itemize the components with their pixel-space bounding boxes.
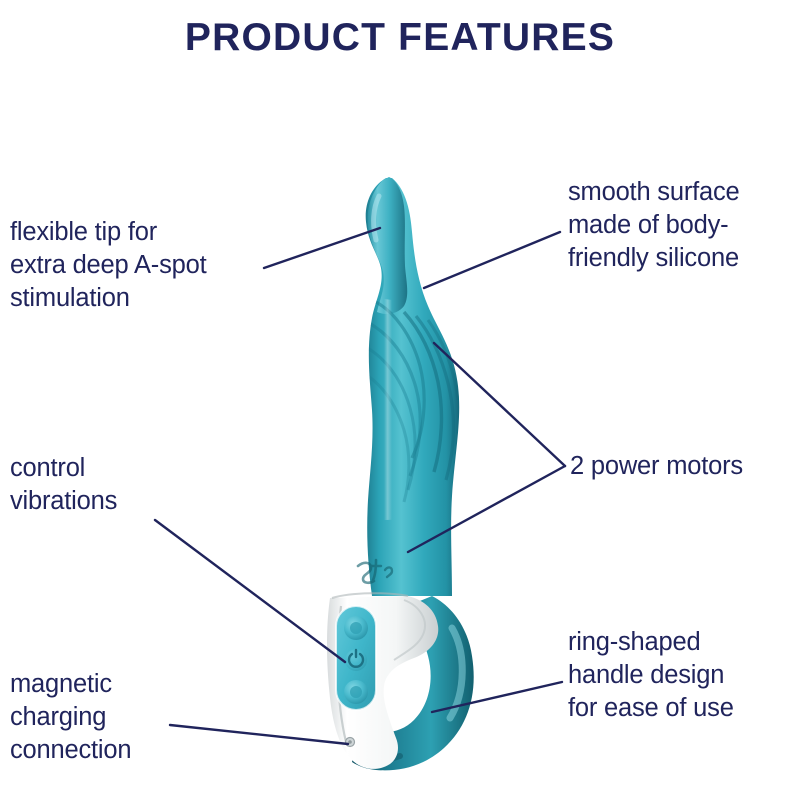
infographic-canvas: PRODUCT FEATURES: [0, 0, 800, 800]
button-down[interactable]: [344, 680, 368, 704]
callout-ring-handle: ring-shaped handle design for ease of us…: [568, 626, 800, 725]
flexible-tip-part: [368, 177, 408, 314]
callout-flexible-tip: flexible tip for extra deep A-spot stimu…: [10, 216, 280, 315]
product-shaft: [358, 177, 459, 596]
callout-smooth-surface: smooth surface made of body- friendly si…: [568, 176, 800, 275]
callout-power-motors: 2 power motors: [570, 450, 800, 483]
button-up[interactable]: [344, 616, 368, 640]
control-panel[interactable]: [336, 606, 376, 710]
magnetic-charging-contacts-icon: [346, 738, 355, 747]
callout-control-vibrations: control vibrations: [10, 452, 240, 518]
power-button[interactable]: [345, 649, 367, 671]
callout-magnetic-charging: magnetic charging connection: [10, 668, 250, 767]
